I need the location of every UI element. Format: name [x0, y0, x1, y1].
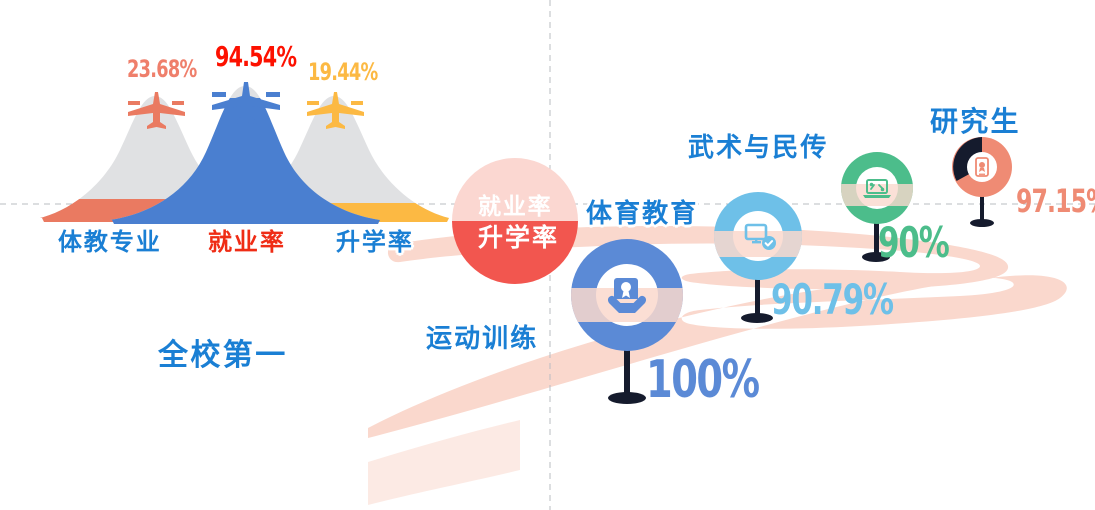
marker-tiyujiaoyu[interactable]	[700, 192, 820, 280]
laptop-chart-icon	[863, 180, 891, 198]
marker-value-wushuyuminchuan: 90%	[878, 218, 949, 267]
airplane-icon-right	[307, 92, 364, 129]
mountain-body-gray-2	[110, 86, 380, 220]
legend-label-jiuyelv: 就业率	[478, 187, 553, 221]
marker-value-tiyujiaoyu: 90.79%	[771, 275, 893, 324]
airplane-icon-left	[128, 92, 185, 129]
marker-yanjiusheng[interactable]	[952, 137, 1012, 197]
legend-label-shengxuelv: 升学率	[478, 218, 559, 254]
marker-label-yanjiusheng: 研究生	[930, 100, 1021, 140]
airplane-icon-center	[212, 82, 280, 124]
mountain-body-gray-1	[40, 96, 270, 218]
infographic-canvas: 23.68% 94.54% 19.44% 体教专业 就业率 升学率 全校第一 就…	[0, 0, 1095, 510]
mountain-label-tijiaozhuanye: 体教专业	[58, 222, 162, 257]
ribbon-tail	[368, 420, 520, 505]
marker-value-yanjiusheng: 97.15%	[1016, 182, 1095, 220]
monitor-check-icon	[746, 225, 776, 250]
hands-holding-certificate-icon	[608, 278, 646, 313]
marker-wushuyuminchuan[interactable]	[830, 152, 930, 224]
marker-value-yundongxunlian: 100%	[646, 350, 759, 410]
pin-stand-1	[608, 348, 646, 404]
mountain-label-shengxuelv: 升学率	[336, 222, 414, 257]
marker-yundongxunlian[interactable]	[560, 239, 700, 351]
marker-label-wushuyuminchuan: 武术与民传	[688, 127, 828, 164]
mountain-value-tijiaozhuanye: 23.68%	[127, 55, 197, 83]
pin-stand-2	[741, 278, 773, 323]
section-title-quanxiao-diyi: 全校第一	[158, 330, 288, 374]
donut-dark-segment	[953, 137, 982, 181]
phone-award-icon	[976, 158, 988, 176]
marker-label-tiyujiaoyu: 体育教育	[586, 193, 698, 230]
marker-label-yundongxunlian: 运动训练	[426, 318, 538, 355]
pin-stand-4	[970, 196, 994, 227]
mountain-value-shengxuelv: 19.44%	[308, 58, 378, 86]
mountain-label-jiuyelv: 就业率	[208, 222, 286, 257]
mountain-value-jiuyelv: 94.54%	[215, 40, 296, 73]
mountain-body-gray-3	[219, 96, 449, 218]
